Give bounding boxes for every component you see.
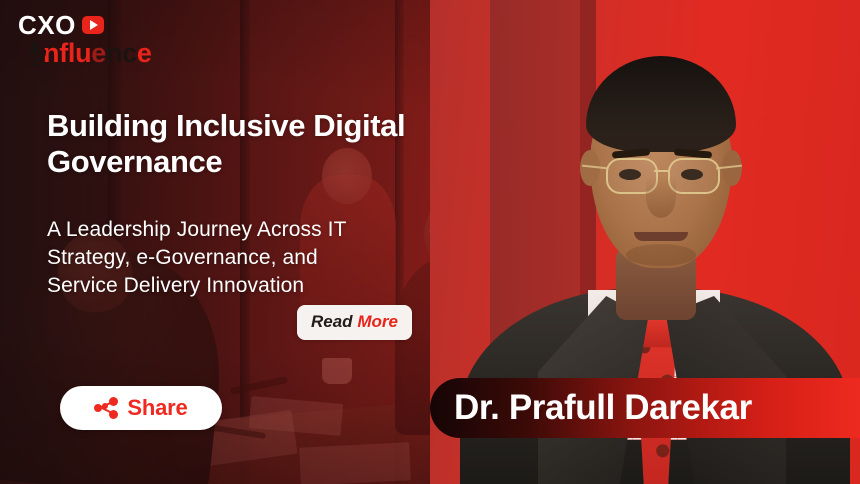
- brand-logo[interactable]: CXO nflu e nc e: [18, 12, 152, 67]
- read-more-button[interactable]: Read More: [297, 305, 412, 340]
- brand-logo-bottom: nflu e nc e: [28, 40, 152, 67]
- brand-word-part-2: e: [91, 40, 106, 67]
- page-title: Building Inclusive Digital Governance: [47, 108, 407, 180]
- share-button-label: Share: [127, 395, 187, 421]
- brand-logo-top: CXO: [18, 12, 152, 38]
- speaker-name-banner: Dr. Prafull Darekar: [430, 378, 860, 438]
- microphone-icon: [28, 41, 42, 67]
- brand-name-cxo: CXO: [18, 12, 76, 38]
- read-more-label-part-2: More: [357, 312, 398, 331]
- read-more-label-part-1: Read: [311, 312, 353, 331]
- share-nodes-icon: [94, 397, 118, 419]
- play-icon: [82, 16, 104, 34]
- brand-word-part-4: e: [137, 40, 152, 67]
- brand-word-part-3: nc: [106, 40, 137, 67]
- brand-word-part-1: nflu: [43, 40, 91, 67]
- speaker-name: Dr. Prafull Darekar: [454, 388, 752, 428]
- page-subtitle: A Leadership Journey Across IT Strategy,…: [47, 216, 367, 300]
- social-media-card: CXO nflu e nc e Building Inclusive Digit…: [0, 0, 860, 484]
- share-button[interactable]: Share: [60, 386, 222, 430]
